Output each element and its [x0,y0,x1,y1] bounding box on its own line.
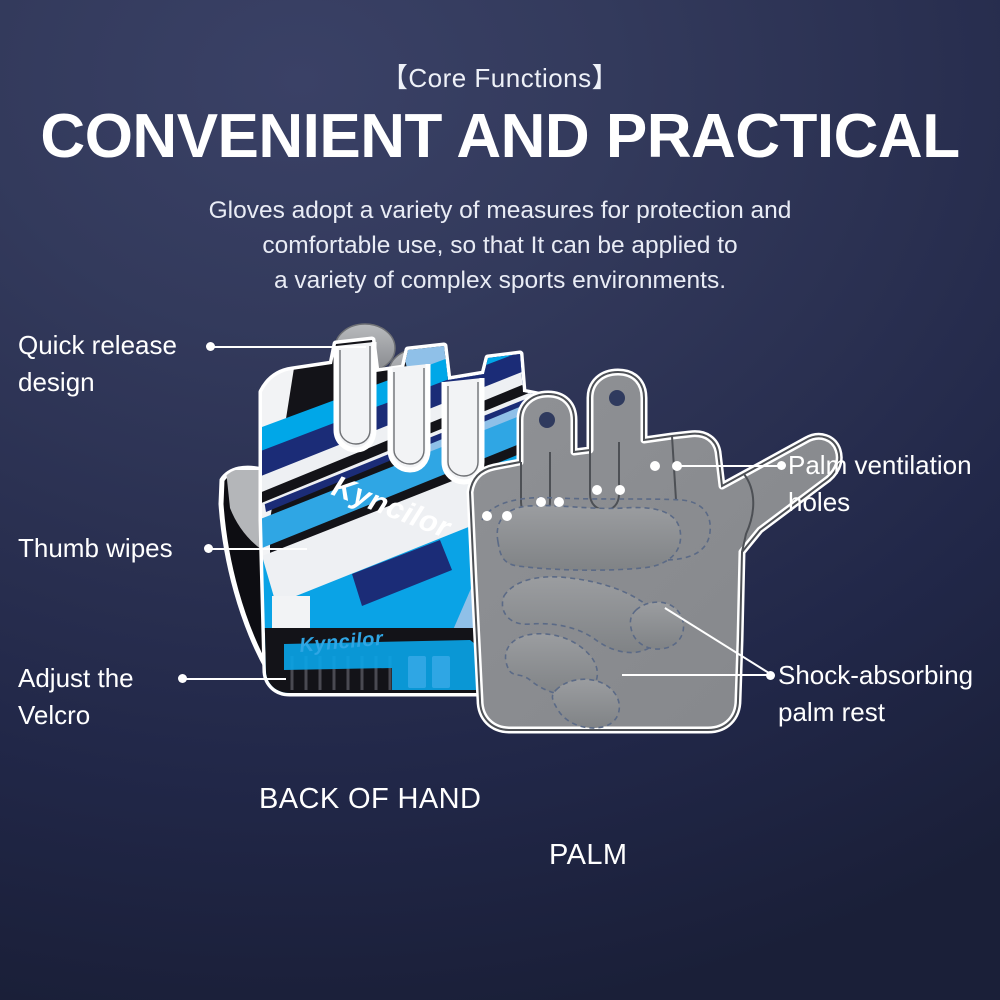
callout-adjust-velcro-line-1: Adjust the [18,660,218,697]
dot-palm-ventilation [777,461,786,470]
callout-shock-absorbing-line-2: palm rest [778,694,998,731]
leader-thumb-wipes [212,548,307,550]
leader-shock-horizontal [622,674,772,676]
dot-shock-absorbing [766,671,775,680]
callout-thumb-wipes-line-1: Thumb wipes [18,530,218,567]
bracket-close-icon: 】 [592,63,620,93]
callout-adjust-velcro-line-2: Velcro [18,697,218,734]
infographic-canvas: Kyncilor Kyncilor [0,0,1000,1000]
subtitle-line-2: comfortable use, so that It can be appli… [0,228,1000,263]
callout-thumb-wipes: Thumb wipes [18,530,218,567]
callout-shock-absorbing-line-1: Shock-absorbing [778,657,998,694]
subtitle-paragraph: Gloves adopt a variety of measures for p… [0,193,1000,298]
callout-palm-ventilation: Palm ventilation holes [788,447,998,522]
subtitle-line-3: a variety of complex sports environments… [0,263,1000,298]
bracket-open-icon: 【 [381,63,409,93]
caption-back-of-hand: BACK OF HAND [259,783,481,816]
leader-quick-release [214,346,366,348]
eyebrow-text: Core Functions [408,63,591,93]
caption-palm: PALM [549,839,627,872]
callout-quick-release-line-1: Quick release [18,327,218,364]
callout-quick-release: Quick release design [18,327,218,402]
callout-palm-ventilation-line-1: Palm ventilation [788,447,998,484]
callout-shock-absorbing: Shock-absorbing palm rest [778,657,998,732]
callout-adjust-velcro: Adjust the Velcro [18,660,218,735]
leader-palm-ventilation [677,465,783,467]
subtitle-line-1: Gloves adopt a variety of measures for p… [0,193,1000,228]
callout-quick-release-line-2: design [18,364,218,401]
callout-palm-ventilation-line-2: holes [788,484,998,521]
page-title: CONVENIENT AND PRACTICAL [0,104,1000,169]
eyebrow-label: 【Core Functions】 [0,56,1000,95]
